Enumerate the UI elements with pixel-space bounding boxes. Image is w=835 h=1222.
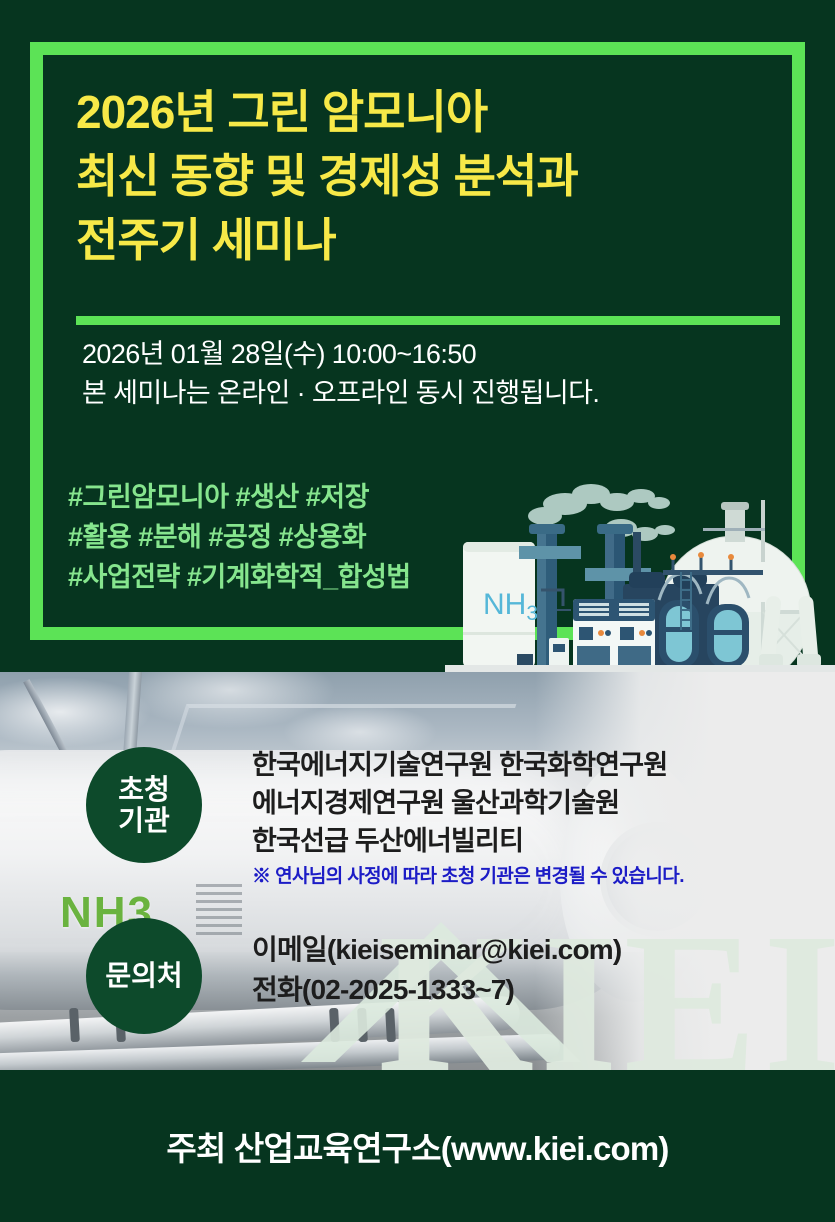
title-line-1: 2026년 그린 암모니아 — [76, 80, 776, 144]
footer: 주최 산업교육연구소(www.kiei.com) — [0, 1070, 835, 1222]
status-badge-contact: 문의처 — [86, 918, 202, 1034]
photo-pipe-band — [69, 1008, 80, 1042]
photo-tank-decal — [196, 884, 242, 936]
photo-panel: NH3 KIEI 초청 기관 문의처 한국에너지기술연구원 한국화학연구원 에너… — [0, 672, 835, 1070]
seminar-poster: 2026년 그린 암모니아 최신 동향 및 경제성 분석과 전주기 세미나 20… — [0, 0, 835, 1222]
organizations-block: 한국에너지기술연구원 한국화학연구원 에너지경제연구원 울산과학기술원 한국선급… — [252, 746, 684, 892]
title-line-3: 전주기 세미나 — [76, 208, 776, 272]
badge-contact-label: 문의처 — [105, 960, 182, 991]
organization-line-3: 한국선급 두산에너빌리티 — [252, 822, 684, 860]
title-divider — [76, 316, 780, 325]
organization-line-2: 에너지경제연구원 울산과학기술원 — [252, 784, 684, 822]
organization-line-1: 한국에너지기술연구원 한국화학연구원 — [252, 746, 684, 784]
organization-note: ※ 연사님의 사정에 따라 초청 기관은 변경될 수 있습니다. — [252, 862, 684, 892]
hashtag-line-3: #사업전략 #기계화학적_합성법 — [68, 557, 411, 597]
schedule-block: 2026년 01월 28일(수) 10:00~16:50 본 세미나는 온라인 … — [82, 335, 599, 413]
ammonia-plant-illustration-icon: NH3 — [445, 472, 835, 672]
status-badge-organizations: 초청 기관 — [86, 747, 202, 863]
title-line-2: 최신 동향 및 경제성 분석과 — [76, 144, 776, 208]
badge-org-line-1: 초청 — [118, 774, 170, 805]
badge-org-line-2: 기관 — [118, 805, 170, 836]
footer-host-text[interactable]: 주최 산업교육연구소(www.kiei.com) — [166, 1122, 668, 1170]
schedule-mode: 본 세미나는 온라인 · 오프라인 동시 진행됩니다. — [82, 374, 599, 413]
contact-email[interactable]: 이메일(kieiseminar@kiei.com) — [252, 930, 621, 970]
schedule-datetime: 2026년 01월 28일(수) 10:00~16:50 — [82, 335, 599, 374]
top-panel: 2026년 그린 암모니아 최신 동향 및 경제성 분석과 전주기 세미나 20… — [0, 0, 835, 672]
contact-block: 이메일(kieiseminar@kiei.com) 전화(02-2025-133… — [252, 930, 621, 1010]
hashtag-block: #그린암모니아 #생산 #저장 #활용 #분해 #공정 #상용화 #사업전략 #… — [68, 477, 411, 597]
hashtag-line-1: #그린암모니아 #생산 #저장 — [68, 477, 411, 517]
contact-phone[interactable]: 전화(02-2025-1333~7) — [252, 970, 621, 1010]
hashtag-line-2: #활용 #분해 #공정 #상용화 — [68, 517, 411, 557]
page-title: 2026년 그린 암모니아 최신 동향 및 경제성 분석과 전주기 세미나 — [76, 80, 776, 272]
